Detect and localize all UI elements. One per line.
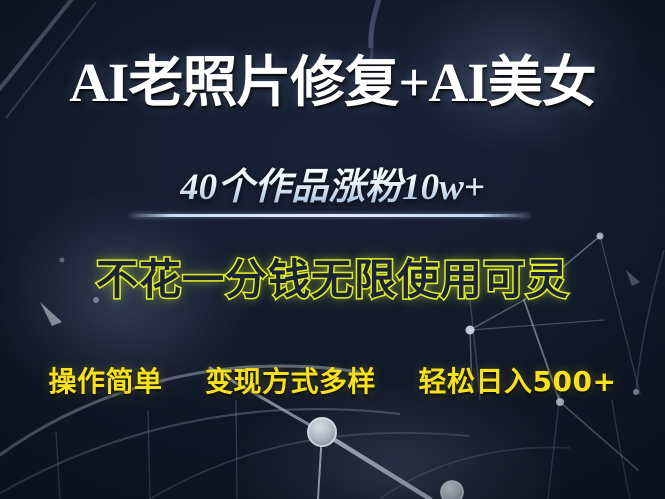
benefit-item-2: 变现方式多样 — [205, 365, 376, 398]
poster-benefit-row: 操作简单 变现方式多样 轻松日入500+ — [0, 365, 665, 399]
benefit-item-1: 操作简单 — [49, 365, 163, 398]
benefit-item-3: 轻松日入500+ — [419, 365, 617, 398]
poster-hollow-headline: 不花一分钱无限使用可灵 — [0, 255, 665, 305]
promo-poster: AI老照片修复+AI美女 40个作品涨粉10w+ 不花一分钱无限使用可灵 操作简… — [0, 0, 665, 499]
poster-text-stack: AI老照片修复+AI美女 40个作品涨粉10w+ 不花一分钱无限使用可灵 操作简… — [0, 0, 665, 499]
subline-underline-rule — [131, 214, 529, 217]
poster-headline: AI老照片修复+AI美女 — [0, 50, 665, 116]
poster-subline-row: 40个作品涨粉10w+ — [0, 166, 665, 210]
poster-subline: 40个作品涨粉10w+ — [180, 166, 485, 210]
